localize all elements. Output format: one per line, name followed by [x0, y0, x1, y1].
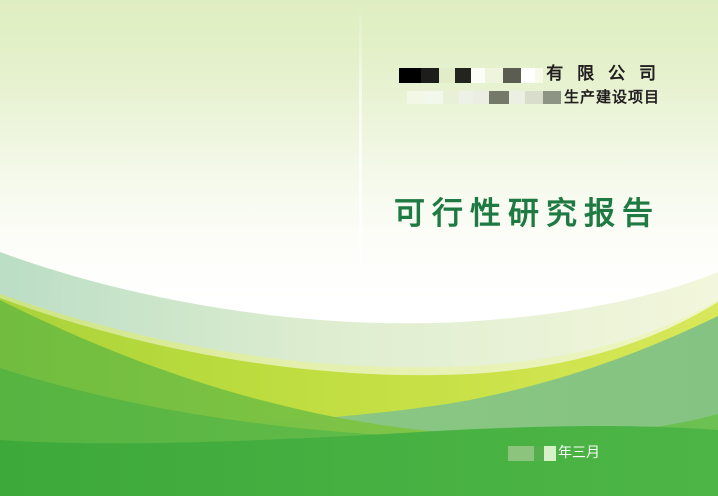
redaction-block — [399, 68, 421, 83]
company-name-redaction — [399, 67, 543, 83]
redaction-block — [503, 68, 521, 83]
redaction-block — [423, 91, 443, 104]
redaction-block — [509, 91, 525, 104]
redaction-block — [407, 91, 423, 104]
company-name-line: 有 限 公 司 — [399, 66, 660, 83]
company-suffix-label: 有 限 公 司 — [543, 66, 660, 83]
page-title: 可行性研究报告 — [394, 188, 660, 233]
redaction-block — [525, 91, 543, 104]
project-type-label: 生产建设项目 — [561, 90, 660, 105]
redaction-block — [471, 68, 485, 83]
redaction-block — [508, 446, 534, 461]
redaction-block — [544, 446, 556, 461]
project-subtitle-line: 生产建设项目 — [399, 89, 660, 105]
redaction-block — [485, 68, 503, 83]
report-cover-page: 有 限 公 司 生产建设项目 可行性研究报告 年三月 — [0, 0, 718, 496]
cover-header: 有 限 公 司 生产建设项目 — [399, 66, 660, 105]
redaction-block — [443, 91, 459, 104]
redaction-block — [489, 91, 509, 104]
cover-date: 年三月 — [508, 442, 600, 462]
redaction-block — [521, 68, 535, 83]
redaction-block — [439, 68, 455, 83]
redaction-block — [534, 446, 544, 461]
redaction-block — [535, 68, 543, 83]
date-month-label: 年三月 — [556, 442, 600, 462]
redaction-block — [455, 68, 471, 83]
redaction-block — [473, 91, 489, 104]
redaction-block — [459, 91, 473, 104]
project-name-redaction — [407, 89, 561, 105]
redaction-block — [543, 91, 561, 104]
redaction-block — [421, 68, 439, 83]
date-year-redaction — [508, 443, 556, 462]
